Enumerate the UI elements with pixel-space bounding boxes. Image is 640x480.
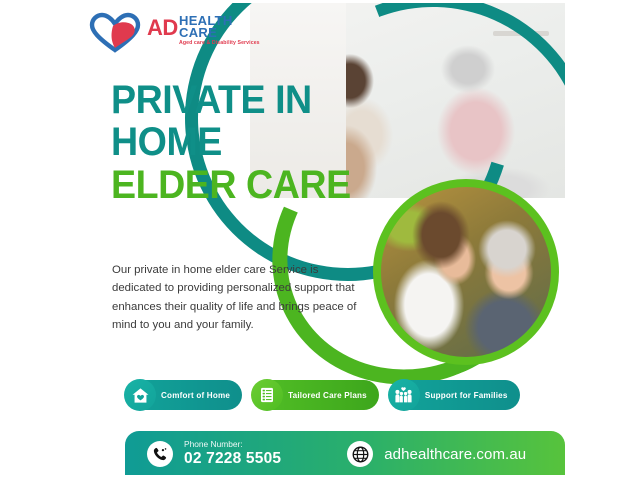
poster-canvas: AD HEALTH CARE Aged care & Disability Se… [0,0,640,480]
phone-number: 02 7228 5505 [184,450,281,468]
headline-line-3: ELDER CARE [111,166,384,204]
phone-icon [147,441,173,467]
body-copy: Our private in home elder care Service i… [112,261,362,335]
heart-hand-icon [87,12,143,54]
headline: PRIVATE IN HOME ELDER CARE [111,81,401,208]
feature-badges: Comfort of Home Tail [125,380,520,410]
logo-tagline: Aged care & Disability Services [179,40,260,46]
logo-care-text: CARE [179,26,217,40]
body-paragraph: Our private in home elder care Service i… [112,261,362,335]
home-heart-icon [124,379,156,411]
website-contact[interactable]: adhealthcare.com.au [347,441,526,467]
logo: AD HEALTH CARE Aged care & Disability Se… [87,12,297,56]
badge-label: Comfort of Home [161,391,230,400]
badge-support-for-families[interactable]: Support for Families [389,380,520,410]
headline-line-2: HOME [111,123,384,161]
badge-label: Support for Families [425,391,508,400]
website-url: adhealthcare.com.au [384,446,526,463]
headline-line-1: PRIVATE IN [111,81,384,119]
flyer: AD HEALTH CARE Aged care & Disability Se… [75,3,565,475]
contact-footer: Phone Number: 02 7228 5505 adhealthcare.… [125,431,565,475]
phone-text-block: Phone Number: 02 7228 5505 [184,440,281,467]
badge-label: Tailored Care Plans [288,391,367,400]
badge-comfort-of-home[interactable]: Comfort of Home [125,380,242,410]
phone-label: Phone Number: [184,440,281,449]
globe-icon [347,441,373,467]
checklist-icon [251,379,283,411]
logo-ad-text: AD [147,17,178,39]
badge-tailored-care-plans[interactable]: Tailored Care Plans [252,380,379,410]
phone-contact[interactable]: Phone Number: 02 7228 5505 [147,440,281,467]
family-group-icon [388,379,420,411]
